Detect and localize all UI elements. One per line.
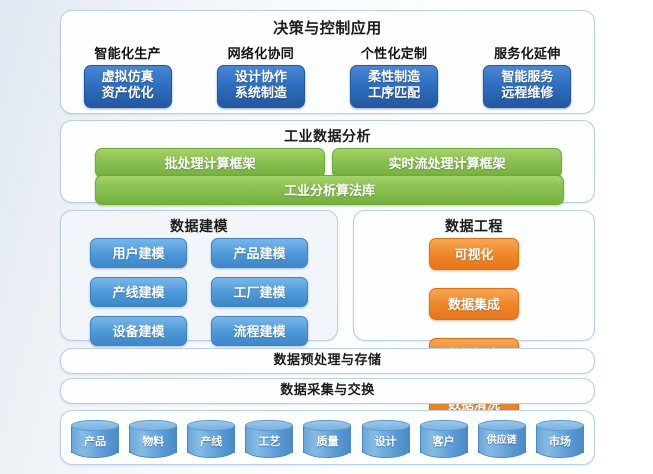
database-cylinder-process[interactable]: 工艺 bbox=[245, 420, 293, 458]
layer-modeling-title: 数据建模 bbox=[61, 216, 337, 236]
decision-button-design-collaboration[interactable]: 设计协作 系统制造 bbox=[217, 65, 305, 108]
cylinder-label: 供应链 bbox=[478, 428, 526, 454]
analytics-button-algorithm-library[interactable]: 工业分析算法库 bbox=[95, 175, 564, 205]
column-heading: 个性化定制 bbox=[361, 43, 428, 62]
analytics-row-2: 工业分析算法库 bbox=[95, 175, 562, 205]
database-cylinder-material[interactable]: 物料 bbox=[129, 420, 177, 458]
layer-data-collection-exchange: 数据采集与交换 bbox=[60, 378, 595, 404]
button-line-2: 远程维修 bbox=[484, 86, 570, 102]
decision-button-virtual-simulation[interactable]: 虚拟仿真 资产优化 bbox=[84, 65, 172, 108]
modeling-button-process[interactable]: 流程建模 bbox=[211, 316, 308, 346]
modeling-button-user[interactable]: 用户建模 bbox=[90, 238, 187, 268]
modeling-button-equipment[interactable]: 设备建模 bbox=[90, 316, 187, 346]
decision-button-smart-service[interactable]: 智能服务 远程维修 bbox=[483, 65, 571, 108]
cylinder-label: 市场 bbox=[536, 429, 584, 455]
engineering-button-visualization[interactable]: 可视化 bbox=[429, 238, 519, 270]
layer-data-sources: 产品 物料 产线 工艺 bbox=[60, 410, 595, 465]
cylinder-label: 产品 bbox=[71, 429, 119, 455]
layer-collection-title: 数据采集与交换 bbox=[61, 379, 594, 403]
analytics-row-1: 批处理计算框架 实时流处理计算框架 bbox=[95, 148, 562, 178]
database-cylinder-supply-chain[interactable]: 供应链 bbox=[478, 420, 526, 458]
decision-column-intelligent-production: 智能化生产 虚拟仿真 资产优化 bbox=[68, 43, 188, 108]
database-cylinder-product[interactable]: 产品 bbox=[71, 420, 119, 458]
column-heading: 服务化延伸 bbox=[494, 43, 561, 62]
cylinder-label: 工艺 bbox=[245, 429, 293, 455]
layer-data-engineering: 数据工程 可视化 数据集成 数据探查 数据清洗 bbox=[353, 210, 595, 341]
modeling-button-product[interactable]: 产品建模 bbox=[211, 238, 308, 268]
layer-decision-title: 决策与控制应用 bbox=[61, 17, 594, 38]
button-line-2: 工序匹配 bbox=[351, 86, 437, 102]
button-line-1: 柔性制造 bbox=[368, 70, 420, 85]
column-heading: 网络化协同 bbox=[228, 43, 295, 62]
database-cylinder-design[interactable]: 设计 bbox=[362, 420, 410, 458]
decision-button-flexible-manufacturing[interactable]: 柔性制造 工序匹配 bbox=[350, 65, 438, 108]
modeling-button-grid: 用户建模 产品建模 产线建模 工厂建模 设备建模 流程建模 bbox=[61, 238, 337, 346]
analytics-button-stream-framework[interactable]: 实时流处理计算框架 bbox=[332, 148, 562, 178]
decision-columns: 智能化生产 虚拟仿真 资产优化 网络化协同 设计协作 系统制造 个性化定制 柔性… bbox=[61, 43, 594, 113]
data-source-row: 产品 物料 产线 工艺 bbox=[61, 417, 594, 461]
layer-industrial-data-analytics: 工业数据分析 批处理计算框架 实时流处理计算框架 工业分析算法库 bbox=[60, 120, 595, 203]
database-cylinder-customer[interactable]: 客户 bbox=[420, 420, 468, 458]
button-line-1: 虚拟仿真 bbox=[102, 70, 154, 85]
decision-column-personalized-customization: 个性化定制 柔性制造 工序匹配 bbox=[334, 43, 454, 108]
modeling-button-factory[interactable]: 工厂建模 bbox=[211, 277, 308, 307]
diagram-canvas: 决策与控制应用 智能化生产 虚拟仿真 资产优化 网络化协同 设计协作 系统制造 … bbox=[0, 0, 653, 474]
layer-analytics-title: 工业数据分析 bbox=[61, 126, 594, 146]
layer-engineering-title: 数据工程 bbox=[354, 216, 594, 236]
cylinder-label: 客户 bbox=[420, 429, 468, 455]
cylinder-label: 物料 bbox=[129, 429, 177, 455]
decision-column-service-extension: 服务化延伸 智能服务 远程维修 bbox=[467, 43, 587, 108]
engineering-button-data-integration[interactable]: 数据集成 bbox=[429, 288, 519, 320]
column-heading: 智能化生产 bbox=[94, 43, 161, 62]
button-line-1: 设计协作 bbox=[235, 70, 287, 85]
database-cylinder-quality[interactable]: 质量 bbox=[303, 420, 351, 458]
layer-data-preprocessing-storage: 数据预处理与存储 bbox=[60, 348, 595, 374]
cylinder-label: 产线 bbox=[187, 429, 235, 455]
button-line-2: 系统制造 bbox=[218, 86, 304, 102]
button-line-1: 智能服务 bbox=[501, 70, 553, 85]
layer-decision-control: 决策与控制应用 智能化生产 虚拟仿真 资产优化 网络化协同 设计协作 系统制造 … bbox=[60, 10, 595, 114]
database-cylinder-market[interactable]: 市场 bbox=[536, 420, 584, 458]
modeling-button-production-line[interactable]: 产线建模 bbox=[90, 277, 187, 307]
button-line-2: 资产优化 bbox=[85, 86, 171, 102]
decision-column-networked-collaboration: 网络化协同 设计协作 系统制造 bbox=[201, 43, 321, 108]
layer-data-modeling: 数据建模 用户建模 产品建模 产线建模 工厂建模 设备建模 流程建模 bbox=[60, 210, 338, 341]
cylinder-label: 质量 bbox=[303, 429, 351, 455]
cylinder-label: 设计 bbox=[362, 429, 410, 455]
database-cylinder-production-line[interactable]: 产线 bbox=[187, 420, 235, 458]
analytics-button-batch-framework[interactable]: 批处理计算框架 bbox=[95, 148, 325, 178]
layer-preprocessing-title: 数据预处理与存储 bbox=[61, 349, 594, 373]
